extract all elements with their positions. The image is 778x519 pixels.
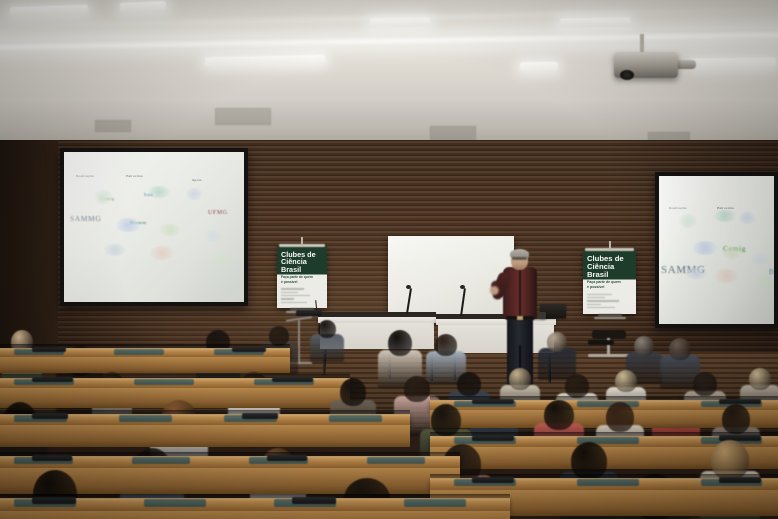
ceiling-light-panel <box>520 62 558 72</box>
person-head <box>565 374 589 398</box>
banner-text-line <box>281 302 307 303</box>
banner-pole <box>301 237 303 247</box>
laptop-closed <box>272 377 313 382</box>
laptop-closed <box>232 347 266 352</box>
banner-left: Clubes deCiência BrasilFaça parte de que… <box>277 246 327 308</box>
person-head <box>404 376 430 402</box>
slide-section-heading: Apoio <box>192 178 202 182</box>
sponsor-logo-mark <box>693 241 717 255</box>
banner-tripod-base <box>594 317 626 319</box>
slide-section-heading: Patrocínio <box>126 174 143 178</box>
left-projection-screen: RealizaçãoPatrocínioApoioSAMMGUFMGBiommC… <box>60 148 248 306</box>
sponsor-logo: Bio <box>769 268 774 276</box>
laptop-closed <box>32 377 73 382</box>
desk-mat <box>367 457 426 464</box>
chair-backrest <box>588 340 614 345</box>
laptop-closed <box>472 399 514 404</box>
person-head <box>509 368 531 390</box>
desk-row-front <box>0 425 410 447</box>
laptop-closed <box>32 497 76 504</box>
sponsor-logo-mark <box>204 230 222 242</box>
banner-text-line <box>587 294 612 295</box>
sponsor-logo-mark <box>715 269 739 283</box>
banner-right: Clubes deCiência BrasilFaça parte de que… <box>583 250 636 314</box>
ceiling-light-panel <box>120 1 166 12</box>
person-head <box>340 378 366 406</box>
laptop-closed <box>267 455 307 461</box>
desk-mat <box>577 479 639 486</box>
banner-body-text <box>281 288 323 305</box>
ceiling-light-panel <box>560 18 630 28</box>
slide-content: RealizaçãoPatrocínioApoioSAMMGUFMGBiommC… <box>64 152 244 302</box>
banner-body-text <box>587 294 632 311</box>
microphone-head-left <box>406 285 411 289</box>
person-head <box>388 330 412 356</box>
person-head <box>544 400 574 430</box>
sponsor-logo: UFMG <box>208 210 228 216</box>
laptop-closed <box>32 455 72 461</box>
banner-text-line <box>587 304 601 305</box>
laptop-closed <box>242 413 278 419</box>
banner-subtitle-line-2: é possível <box>281 281 297 285</box>
laptop-closed <box>32 347 66 352</box>
banner-subtitle-line-2: é possível <box>587 286 604 290</box>
sponsor-logo-mark <box>104 244 126 256</box>
person-head <box>318 320 336 338</box>
sponsor-logo-mark <box>150 246 174 260</box>
banner-title-line-2: Ciência Brasil <box>281 258 325 273</box>
sponsor-logo-mark <box>714 210 736 222</box>
banner-text-line <box>281 292 298 293</box>
sponsor-logo-mark <box>116 218 140 232</box>
sponsor-logo-mark <box>722 247 742 259</box>
chair-base <box>588 354 630 357</box>
person-torso <box>310 334 344 362</box>
person-head <box>435 334 457 356</box>
lecture-hall-photo: RealizaçãoPatrocínioApoioSAMMGUFMGBiommC… <box>0 0 778 519</box>
banner-text-line <box>281 298 294 299</box>
desk-mat <box>114 349 164 355</box>
laptop-closed <box>472 435 514 441</box>
banner-text-line <box>587 297 605 298</box>
banner-text-line <box>281 295 310 296</box>
sponsor-logo-mark <box>148 186 170 198</box>
person-head <box>269 326 289 346</box>
person-head <box>693 372 717 396</box>
banner-text-line <box>281 288 304 289</box>
sponsor-logo-mark <box>756 275 774 289</box>
desk-mat <box>119 415 172 422</box>
audience-member <box>310 320 344 366</box>
mic-stand-pole <box>298 320 300 364</box>
banner-graphic: Clubes deCiência BrasilFaça parte de que… <box>583 250 636 314</box>
projector-lens <box>620 70 634 80</box>
sponsor-logo-mark <box>679 214 697 228</box>
laptop-closed <box>472 477 514 483</box>
banner-pole <box>609 241 611 251</box>
banner-text-line <box>587 307 615 308</box>
table-object <box>296 310 322 316</box>
desk-mat <box>132 457 191 464</box>
banner-title-line-2: Ciência Brasil <box>587 263 634 279</box>
table-edge-left <box>318 312 436 317</box>
sponsor-logo-mark <box>94 190 112 204</box>
left-projection-screen-surface: RealizaçãoPatrocínioApoioSAMMGUFMGBiommC… <box>64 152 244 302</box>
person-head <box>634 336 654 356</box>
desk-mat <box>134 379 194 385</box>
banner-graphic: Clubes deCiência BrasilFaça parte de que… <box>277 246 327 308</box>
sponsor-logo-mark <box>751 253 769 265</box>
sponsor-logo-mark <box>160 224 180 236</box>
microphone-head-right <box>460 285 465 289</box>
slide-section-heading: Realização <box>669 206 687 210</box>
person-head <box>547 332 567 352</box>
sponsor-logo-mark <box>212 252 230 266</box>
right-projection-screen-surface: RealizaçãoPatrocínioSAMMGCemigBio <box>659 176 774 324</box>
ceiling-light-panel <box>690 58 776 68</box>
sponsor-logo-mark <box>739 212 755 224</box>
sponsor-logo-mark <box>685 267 707 279</box>
sponsor-logo-mark <box>186 188 202 200</box>
desk-mat <box>404 499 466 507</box>
person-head <box>749 368 771 390</box>
laptop-closed <box>719 477 761 483</box>
person-head <box>722 404 750 434</box>
desk-mat <box>144 499 206 507</box>
sponsor-logo: SAMMG <box>70 214 101 223</box>
right-projection-screen: RealizaçãoPatrocínioSAMMGCemigBio <box>655 172 778 328</box>
laptop-closed <box>292 497 336 504</box>
person-head <box>457 372 481 396</box>
laptop-closed <box>32 413 68 419</box>
person-head <box>606 402 634 432</box>
desk-row-front <box>0 511 510 519</box>
person-head <box>615 370 637 392</box>
person-head <box>669 338 691 360</box>
banner-text-line <box>587 300 619 301</box>
slide-section-heading: Realização <box>76 174 94 178</box>
desk-mat <box>329 415 382 422</box>
ceiling-light-panel <box>370 17 430 27</box>
desk-row-front <box>0 357 290 373</box>
slide-content: RealizaçãoPatrocínioSAMMGCemigBio <box>659 176 774 324</box>
